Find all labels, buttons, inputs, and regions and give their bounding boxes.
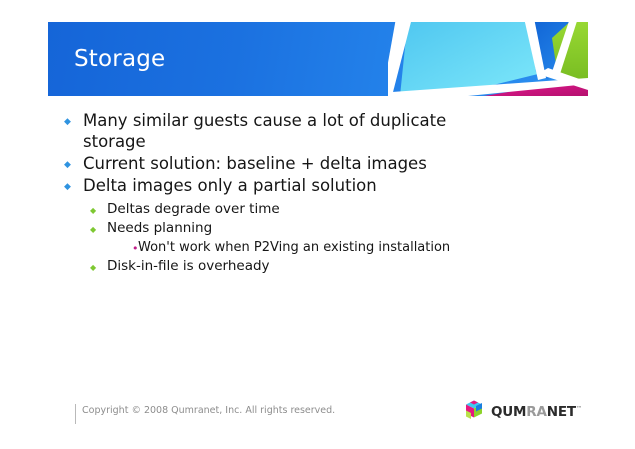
trademark-symbol: ™ <box>576 406 582 413</box>
qumranet-logo: QUMRANET™ <box>462 399 582 427</box>
list-item-label: Deltas degrade over time <box>107 200 280 219</box>
list-item: ◆ Deltas degrade over time <box>90 200 584 219</box>
list-item-label: Needs planning <box>107 219 212 238</box>
list-item-label: Delta images only a partial solution <box>83 175 377 196</box>
list-item: ◆ Delta images only a partial solution <box>64 175 584 196</box>
qumranet-wordmark: QUMRANET™ <box>491 406 582 420</box>
bullet-diamond-icon: ◆ <box>64 153 83 170</box>
page-title: Storage <box>74 48 165 71</box>
header-decorative-graphic <box>388 22 588 96</box>
logo-word-part1: QUM <box>491 404 526 420</box>
slide-canvas: Storage ◆ Many similar guests cause a lo… <box>0 0 635 449</box>
footer-divider <box>75 404 76 424</box>
slide-header: Storage <box>48 22 588 96</box>
qumranet-cube-icon <box>462 400 486 426</box>
list-item: ◆ Disk-in-file is overheady <box>90 257 584 276</box>
list-item: • Won't work when P2Ving an existing ins… <box>132 238 584 257</box>
list-item-label: Current solution: baseline + delta image… <box>83 153 427 174</box>
bullet-list: ◆ Many similar guests cause a lot of dup… <box>64 110 584 276</box>
list-item: ◆ Current solution: baseline + delta ima… <box>64 153 584 174</box>
logo-word-part3: NET <box>547 404 576 420</box>
bullet-diamond-icon: ◆ <box>64 175 83 192</box>
bullet-diamond-icon: ◆ <box>64 110 83 127</box>
list-item-label: Won't work when P2Ving an existing insta… <box>138 238 450 257</box>
list-item-label: Many similar guests cause a lot of dupli… <box>83 110 503 152</box>
list-item: ◆ Needs planning <box>90 219 584 238</box>
list-item-label: Disk-in-file is overheady <box>107 257 270 276</box>
logo-word-part2: RA <box>526 404 546 420</box>
copyright-text: Copyright © 2008 Qumranet, Inc. All righ… <box>82 404 335 418</box>
list-item: ◆ Many similar guests cause a lot of dup… <box>64 110 584 152</box>
sub-bullet-diamond-icon: ◆ <box>90 257 107 272</box>
sub-bullet-diamond-icon: ◆ <box>90 219 107 234</box>
sub-bullet-diamond-icon: ◆ <box>90 200 107 215</box>
